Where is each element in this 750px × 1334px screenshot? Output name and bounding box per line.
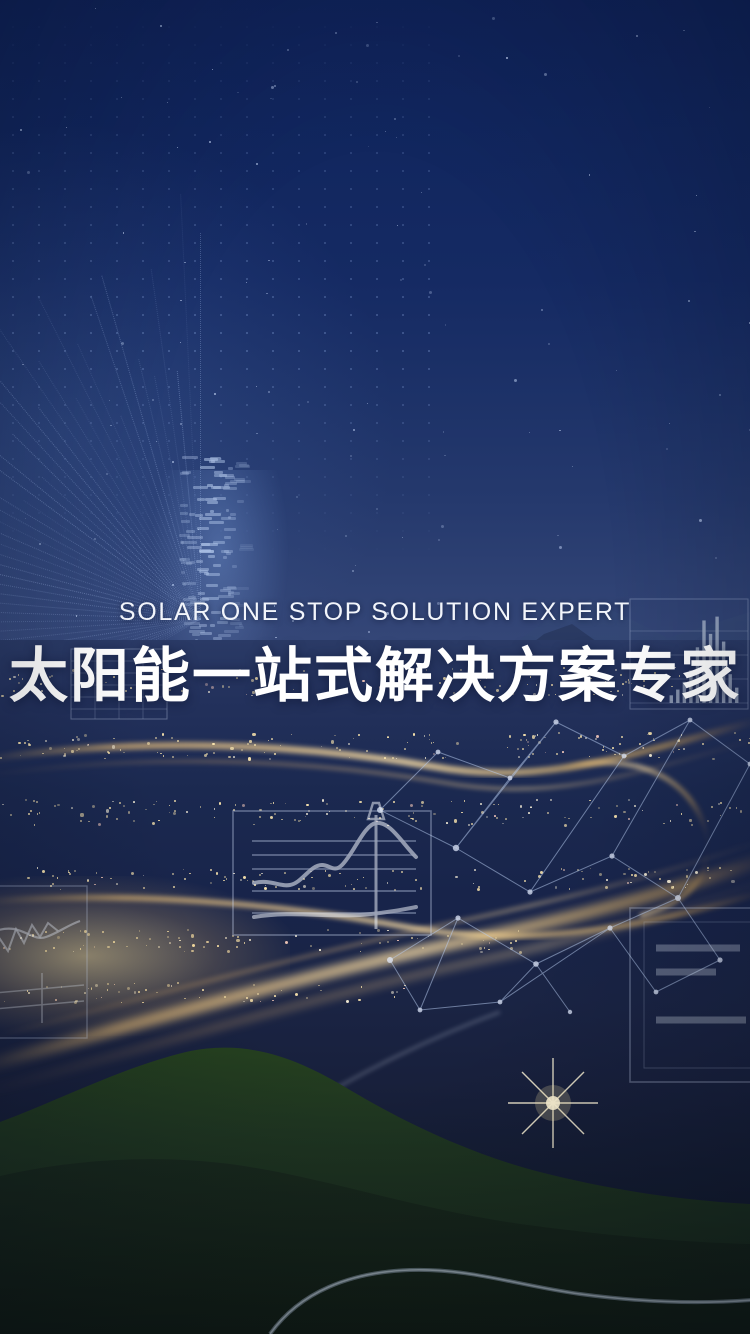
- left-edge-chart-overlay: [0, 885, 110, 1047]
- hero-copy: SOLAR ONE STOP SOLUTION EXPERT 太阳能一站式解决方…: [0, 595, 750, 711]
- right-edge-frame-overlay: [620, 900, 750, 1090]
- line-chart-overlay: [230, 795, 435, 940]
- hero-banner: SOLAR ONE STOP SOLUTION EXPERT 太阳能一站式解决方…: [0, 0, 750, 1334]
- hero-eyebrow: SOLAR ONE STOP SOLUTION EXPERT: [0, 595, 750, 629]
- hero-headline: 太阳能一站式解决方案专家: [0, 641, 750, 711]
